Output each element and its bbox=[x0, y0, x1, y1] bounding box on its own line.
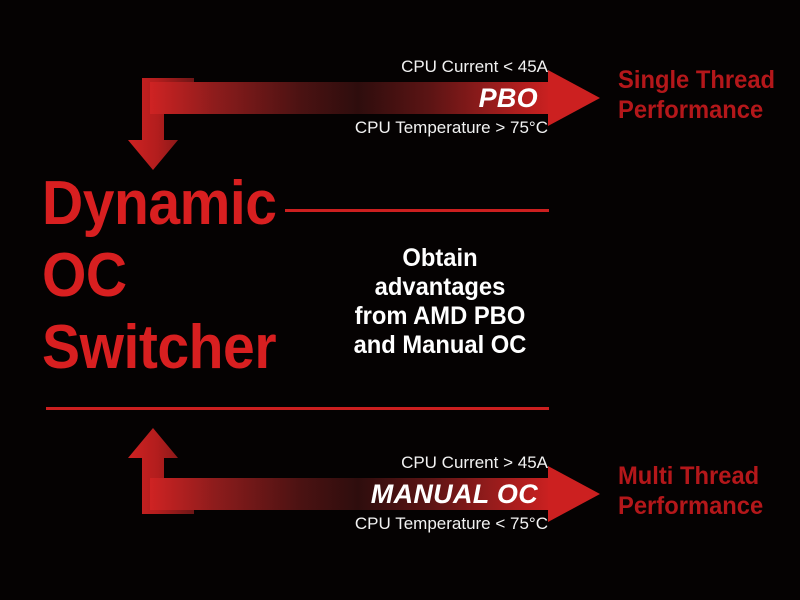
center-note-line-2: advantages bbox=[336, 273, 545, 302]
flow-pbo-outcome-line-1: Single Thread bbox=[618, 65, 800, 95]
flow-manual-oc-outcome-line-2: Performance bbox=[618, 491, 800, 521]
arrowhead-right-icon bbox=[548, 466, 600, 522]
center-note-line-4: and Manual OC bbox=[336, 331, 545, 360]
center-note-line-1: Obtain bbox=[336, 244, 545, 273]
flow-manual-oc-condition-current: CPU Current > 45A bbox=[150, 453, 548, 473]
diagram-canvas: Dynamic OC Switcher Obtain advantages fr… bbox=[0, 0, 800, 600]
divider-top bbox=[285, 209, 549, 212]
arrowhead-right-icon bbox=[548, 70, 600, 126]
flow-pbo-outcome-line-2: Performance bbox=[618, 95, 800, 125]
page-title: Dynamic OC Switcher bbox=[42, 168, 362, 384]
flow-manual-oc-arrow: MANUAL OC bbox=[150, 478, 600, 510]
flow-manual-oc-mode-label: MANUAL OC bbox=[150, 478, 548, 510]
flow-manual-oc-outcome: Multi Thread Performance bbox=[618, 461, 800, 521]
flow-pbo-mode-label: PBO bbox=[150, 82, 548, 114]
flow-pbo: CPU Current < 45A PBO CPU Temperature > … bbox=[150, 50, 770, 146]
flow-pbo-arrow: PBO bbox=[150, 82, 600, 114]
flow-manual-oc-outcome-line-1: Multi Thread bbox=[618, 461, 800, 491]
divider-bottom bbox=[46, 407, 549, 410]
title-line-3: Switcher bbox=[42, 312, 336, 384]
title-line-1: Dynamic bbox=[42, 168, 336, 240]
flow-manual-oc-condition-temperature: CPU Temperature < 75°C bbox=[150, 514, 548, 534]
flow-manual-oc: CPU Current > 45A MANUAL OC CPU Temperat… bbox=[150, 450, 770, 546]
center-note-line-3: from AMD PBO bbox=[336, 302, 545, 331]
title-line-2: OC bbox=[42, 240, 336, 312]
flow-pbo-outcome: Single Thread Performance bbox=[618, 65, 800, 125]
center-note: Obtain advantages from AMD PBO and Manua… bbox=[336, 244, 545, 360]
flow-pbo-condition-temperature: CPU Temperature > 75°C bbox=[150, 118, 548, 138]
flow-pbo-condition-current: CPU Current < 45A bbox=[150, 57, 548, 77]
